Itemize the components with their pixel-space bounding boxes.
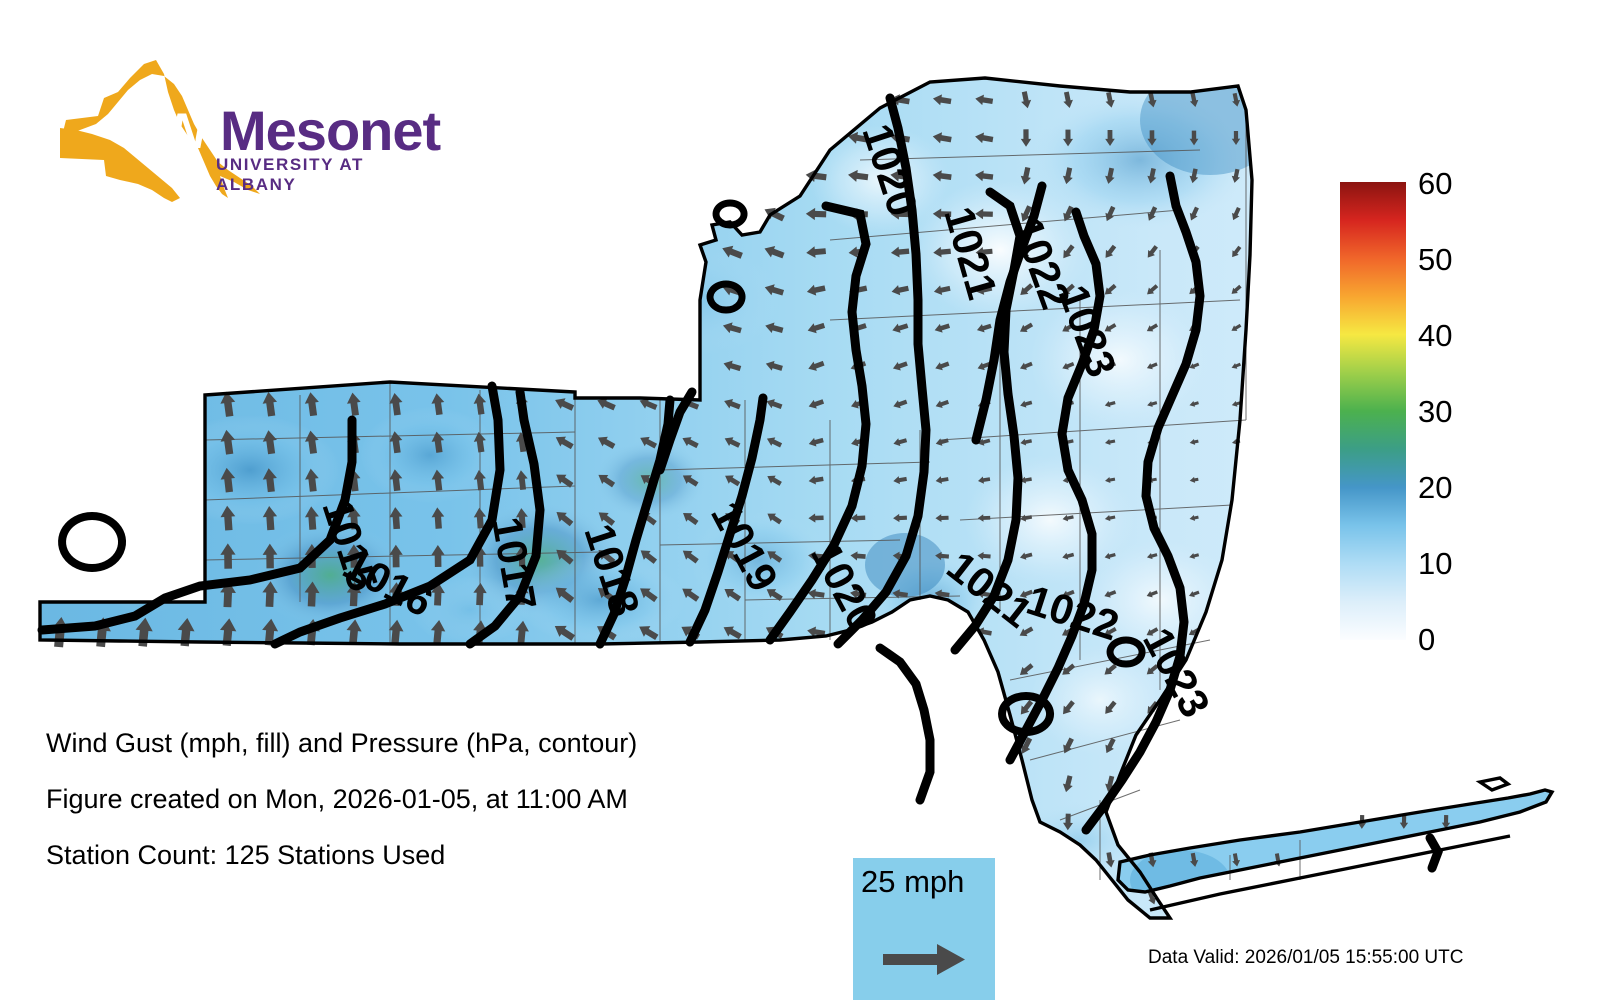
wind-legend-label: 25 mph xyxy=(861,864,964,900)
data-valid-timestamp: Data Valid: 2026/01/05 15:55:00 UTC xyxy=(1148,947,1463,969)
colorbar-tick-10: 10 xyxy=(1418,546,1452,582)
logo-subtitle: UNIVERSITY AT ALBANY xyxy=(216,155,402,195)
logo-mesonet-text: Mesonet xyxy=(220,98,440,163)
colorbar-tick-30: 30 xyxy=(1418,394,1452,430)
wind-scale-legend: 25 mph xyxy=(853,858,995,1000)
gust-colorbar xyxy=(1340,182,1406,640)
caption-station-count: Station Count: 125 Stations Used xyxy=(46,827,637,883)
colorbar-tick-40: 40 xyxy=(1418,318,1452,354)
colorbar-tick-0: 0 xyxy=(1418,622,1435,658)
colorbar-tick-50: 50 xyxy=(1418,242,1452,278)
colorbar-tick-20: 20 xyxy=(1418,470,1452,506)
figure-caption-block: Wind Gust (mph, fill) and Pressure (hPa,… xyxy=(46,715,637,883)
colorbar-tick-60: 60 xyxy=(1418,166,1452,202)
colorbar-tick-labels: 60 50 40 30 20 10 0 xyxy=(1418,160,1498,665)
nys-mesonet-logo: NYS Mesonet UNIVERSITY AT ALBANY xyxy=(52,58,402,198)
caption-created: Figure created on Mon, 2026-01-05, at 11… xyxy=(46,771,637,827)
ny-state-icon-lower xyxy=(60,128,180,202)
caption-title: Wind Gust (mph, fill) and Pressure (hPa,… xyxy=(46,715,637,771)
figure-canvas: 1015 1016 1017 1018 1019 1020 1021 1022 … xyxy=(0,0,1600,1000)
